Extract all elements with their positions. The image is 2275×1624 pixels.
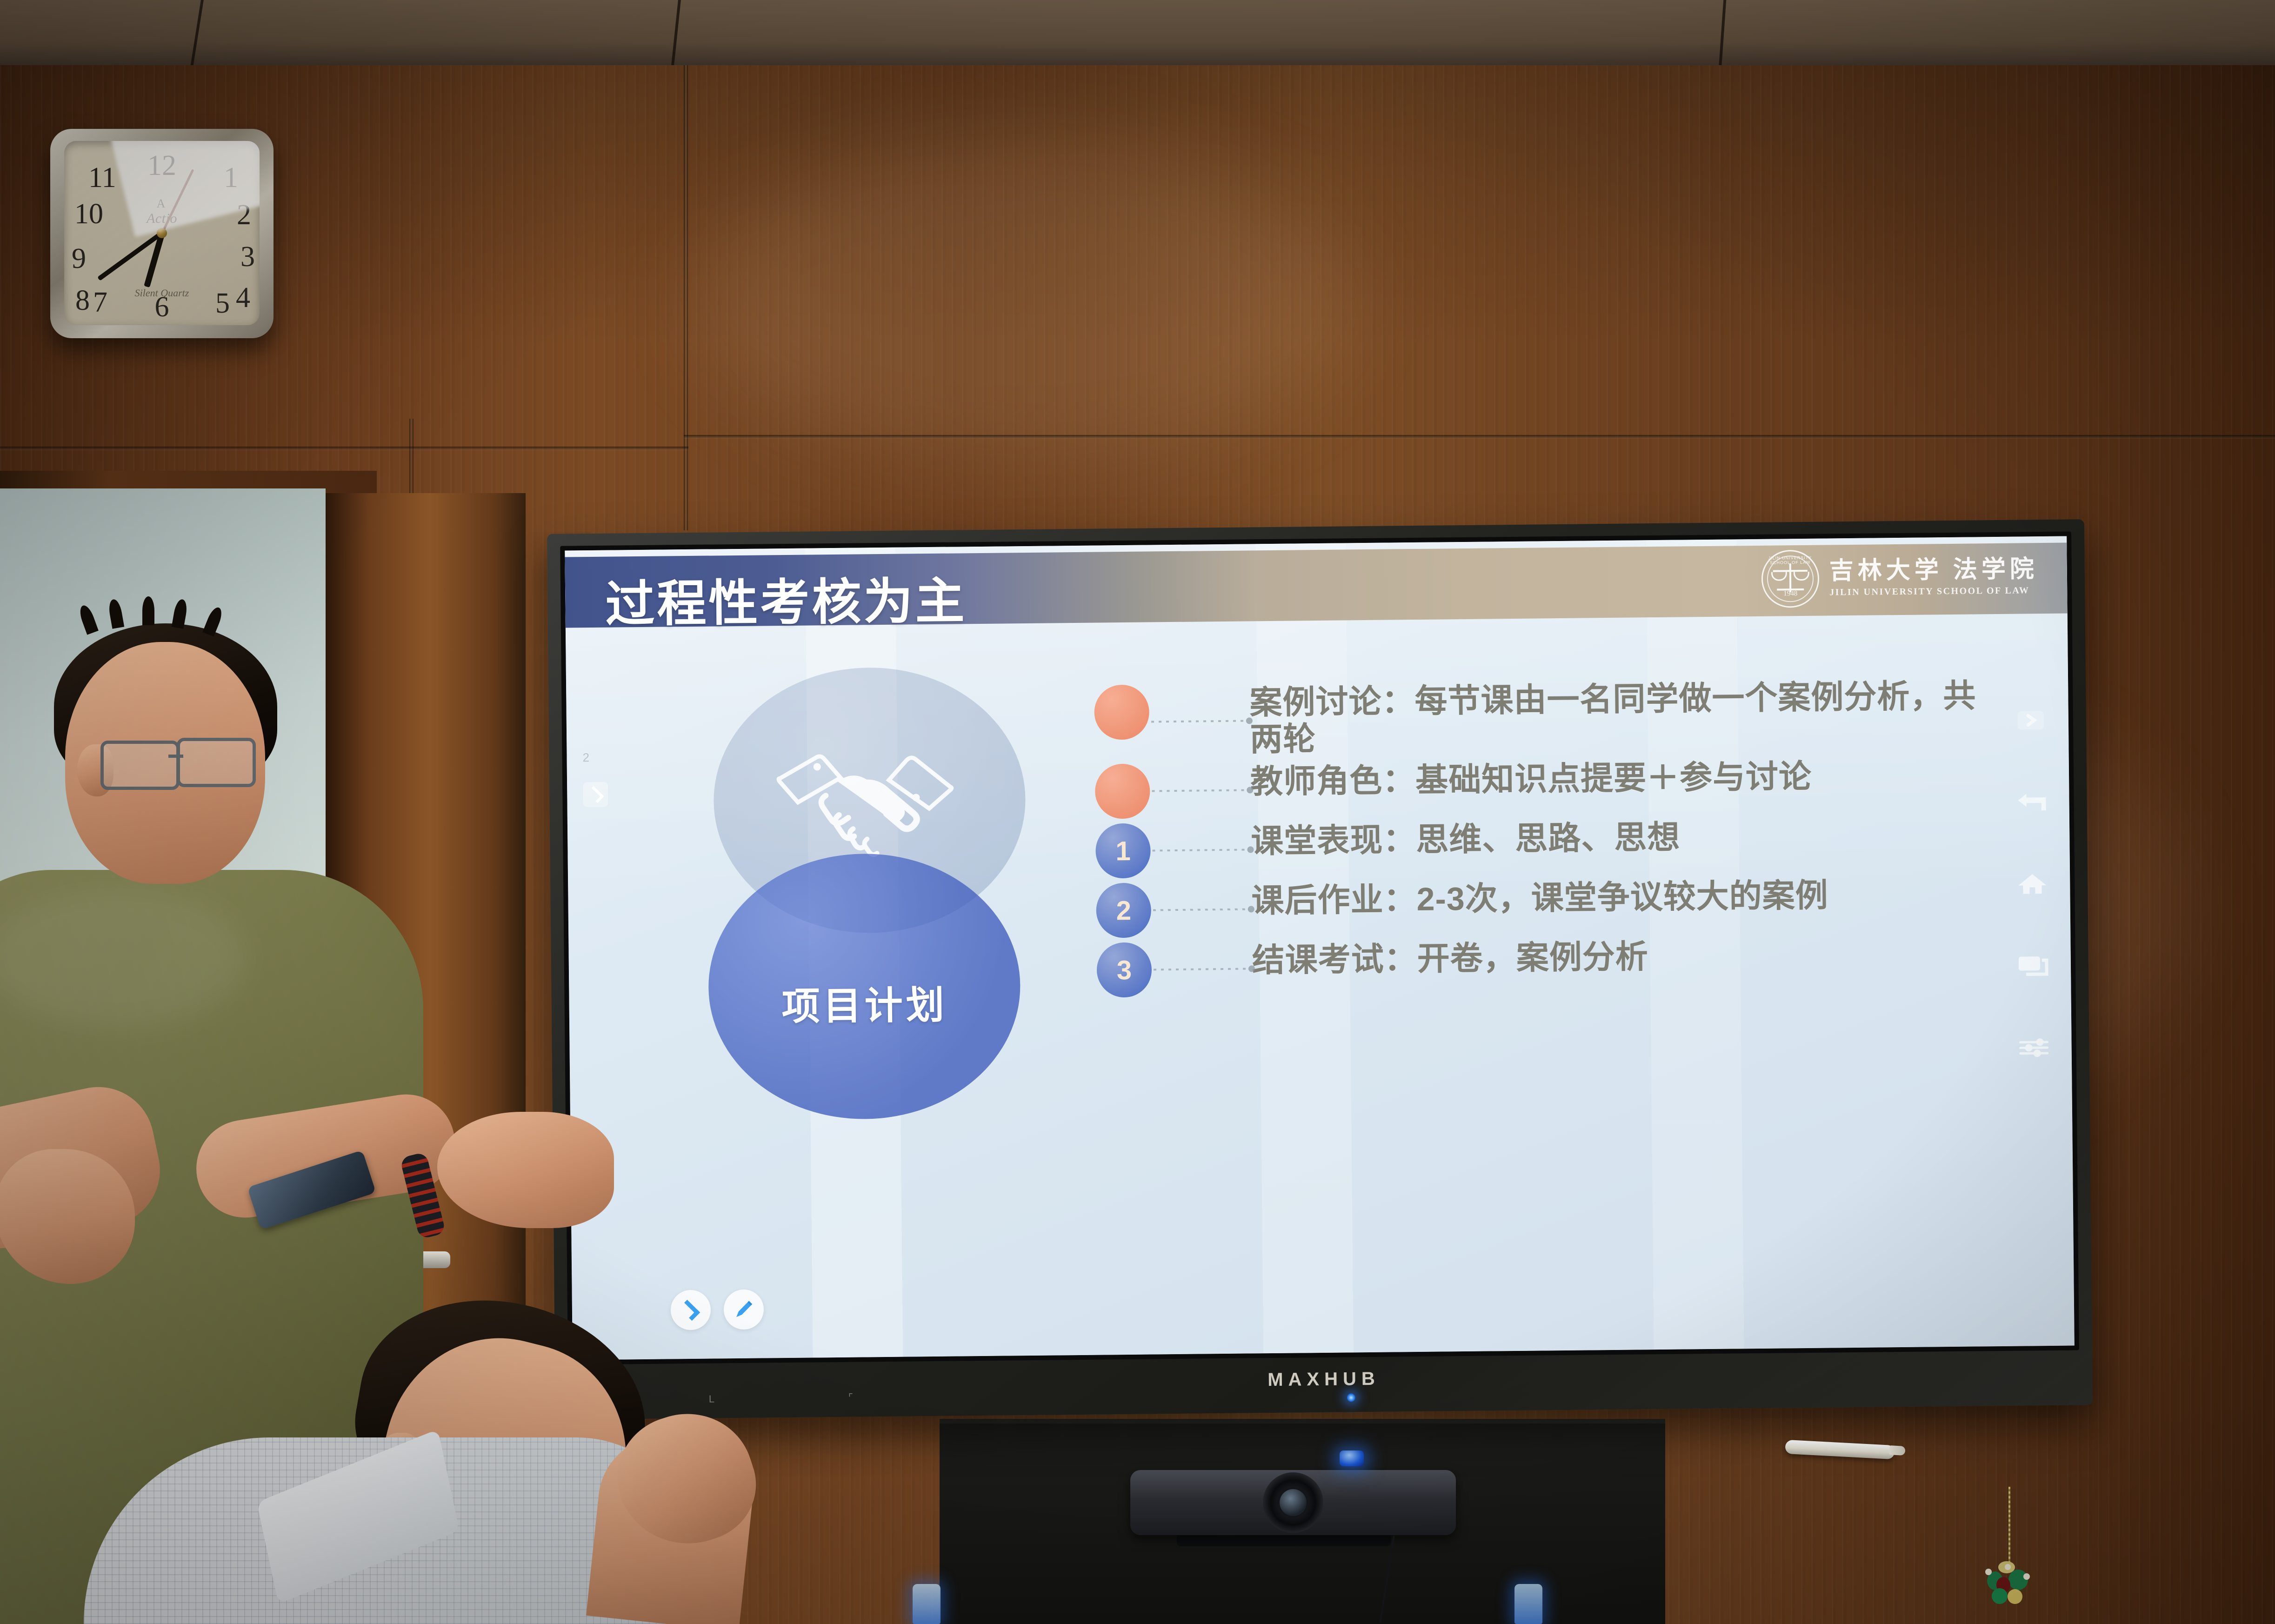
bullet-row: 案例讨论：每节课由一名同学做一个案例分析，共两轮 bbox=[1094, 676, 1994, 760]
bottle-left bbox=[913, 1584, 941, 1624]
presenter-left-hand bbox=[0, 1149, 135, 1284]
pencil-icon[interactable] bbox=[724, 1290, 764, 1330]
logo-name-en: JILIN UNIVERSITY SCHOOL OF LAW bbox=[1829, 585, 2038, 598]
clock-numeral: 8 bbox=[75, 286, 90, 315]
bullet-text: 教师角色：基础知识点提要＋参与讨论 bbox=[1250, 755, 1995, 800]
maxhub-interactive-display[interactable]: 过程性考核为主 JILIN UNIVERSITY SCHOOL OF LAW 1… bbox=[547, 519, 2093, 1420]
bullet-marker-dot: 2 bbox=[1096, 883, 1151, 938]
panel-seam-h-2 bbox=[0, 447, 688, 450]
venn-graphic: 项目计划 bbox=[706, 666, 1035, 1130]
clock-subtitle: Silent Quartz bbox=[135, 287, 189, 299]
logo-text-block: 吉林大学 法学院 JILIN UNIVERSITY SCHOOL OF LAW bbox=[1829, 557, 2039, 598]
chevron-right-icon[interactable] bbox=[583, 782, 608, 808]
leader-line bbox=[1152, 789, 1248, 792]
panel-seam bbox=[684, 65, 688, 530]
bullet-marker-label: 2 bbox=[1096, 883, 1151, 938]
handshake-icon bbox=[767, 732, 964, 873]
leader-line bbox=[1153, 849, 1249, 852]
clock-numeral: 5 bbox=[215, 289, 230, 318]
wall-clock: 12 1 2 3 4 5 6 7 8 9 10 11 A Actio Silen… bbox=[50, 129, 274, 338]
bullet-text: 课堂表现：思维、思路、思想 bbox=[1251, 815, 1995, 860]
bullet-marker-dot bbox=[1095, 764, 1150, 819]
bottom-toolbar[interactable] bbox=[671, 1290, 764, 1330]
logitech-webcam bbox=[1130, 1470, 1456, 1535]
chevron-right-icon[interactable] bbox=[2014, 707, 2048, 734]
clock-numeral: 11 bbox=[88, 163, 116, 192]
clock-numeral: 4 bbox=[236, 283, 250, 312]
bullet-marker-dot bbox=[1094, 684, 1149, 740]
bezel-mark-2: ⌜ bbox=[848, 1392, 854, 1404]
clock-face: 12 1 2 3 4 5 6 7 8 9 10 11 A Actio Silen… bbox=[64, 141, 260, 325]
leader-line bbox=[1153, 909, 1250, 911]
bullet-marker-label: 3 bbox=[1096, 942, 1152, 998]
status-led-blue bbox=[1340, 1450, 1364, 1466]
university-logo: JILIN UNIVERSITY SCHOOL OF LAW 1948 吉林大学… bbox=[1761, 548, 2038, 608]
bullet-marker-label bbox=[1094, 684, 1149, 740]
sliders-icon[interactable] bbox=[2016, 1034, 2051, 1062]
scales-of-justice-seal-icon: JILIN UNIVERSITY SCHOOL OF LAW 1948 bbox=[1761, 550, 1819, 608]
charm-string bbox=[2008, 1487, 2010, 1568]
logo-name-cn: 吉林大学 法学院 bbox=[1829, 557, 2038, 583]
glasses-bridge bbox=[168, 755, 183, 758]
bullet-row: 教师角色：基础知识点提要＋参与讨论 bbox=[1095, 755, 1995, 819]
leader-line bbox=[1151, 720, 1248, 723]
display-screen[interactable]: 过程性考核为主 JILIN UNIVERSITY SCHOOL OF LAW 1… bbox=[565, 536, 2075, 1360]
display-brand-logo: MAXHUB bbox=[1268, 1369, 1380, 1390]
panel-seam-h bbox=[684, 435, 2275, 439]
scene-root: 12 1 2 3 4 5 6 7 8 9 10 11 A Actio Silen… bbox=[0, 0, 2275, 1624]
stylus-tip bbox=[1889, 1445, 1906, 1456]
chevron-right-icon[interactable] bbox=[671, 1290, 711, 1330]
clock-numeral: 10 bbox=[74, 200, 103, 228]
bullet-marker-dot: 3 bbox=[1096, 942, 1152, 998]
glasses-right-lens bbox=[177, 738, 256, 787]
bullet-row: 2 课后作业：2-3次，课堂争议较大的案例 bbox=[1096, 875, 1996, 938]
home-icon[interactable] bbox=[2015, 870, 2050, 898]
seal-year: 1948 bbox=[1763, 590, 1818, 598]
clock-numeral: 7 bbox=[93, 288, 107, 317]
leader-line bbox=[1154, 968, 1250, 971]
bullet-text: 结课考试：开卷，案例分析 bbox=[1252, 934, 1996, 979]
back-arrow-icon[interactable] bbox=[2014, 789, 2049, 816]
bullet-list: 案例讨论：每节课由一名同学做一个案例分析，共两轮 教师角色：基础知识点提要＋参与… bbox=[1094, 676, 1996, 1002]
panel-seam bbox=[409, 419, 414, 493]
venn-label: 项目计划 bbox=[708, 973, 1021, 1031]
clock-numeral: 3 bbox=[240, 242, 255, 271]
bullet-text: 案例讨论：每节课由一名同学做一个案例分析，共两轮 bbox=[1249, 676, 1994, 758]
webcam-lens bbox=[1280, 1489, 1307, 1516]
webcam-lens-ring bbox=[1263, 1472, 1323, 1533]
glasses-left-lens bbox=[100, 741, 180, 790]
right-toolbar[interactable] bbox=[2014, 707, 2051, 1062]
clock-numeral: 9 bbox=[72, 244, 86, 273]
bullet-marker-label: 1 bbox=[1095, 823, 1151, 879]
bullet-text: 课后作业：2-3次，课堂争议较大的案例 bbox=[1251, 875, 1996, 919]
bullet-marker-dot: 1 bbox=[1095, 823, 1151, 879]
ceiling bbox=[0, 0, 2275, 70]
windows-icon[interactable] bbox=[2016, 952, 2051, 980]
slide-page-marker: 2 bbox=[582, 750, 589, 765]
bullet-row: 3 结课考试：开卷，案例分析 bbox=[1096, 934, 1996, 998]
bottle-right bbox=[1514, 1584, 1542, 1624]
presentation-slide: 过程性考核为主 JILIN UNIVERSITY SCHOOL OF LAW 1… bbox=[565, 536, 2075, 1360]
hanging-charm-ornament bbox=[1984, 1561, 2035, 1606]
bullet-marker-label bbox=[1095, 764, 1150, 819]
bullet-row: 1 课堂表现：思维、思路、思想 bbox=[1095, 815, 1995, 879]
bezel-mark: L bbox=[709, 1393, 714, 1405]
display-power-led bbox=[1347, 1393, 1355, 1402]
slide-title: 过程性考核为主 bbox=[605, 561, 967, 635]
